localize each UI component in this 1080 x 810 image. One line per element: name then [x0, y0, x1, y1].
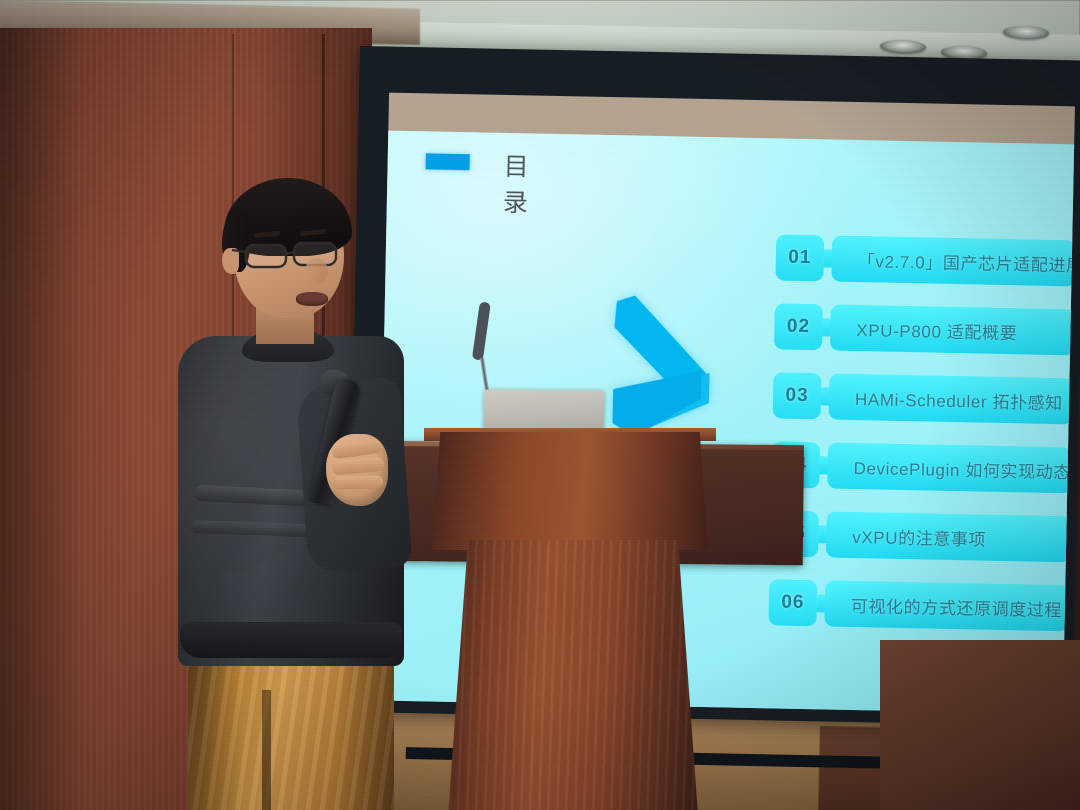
- presenter-mouth: [296, 292, 328, 306]
- wood-wall-right: [880, 640, 1080, 810]
- toc-item-bar: vXPU的注意事项: [826, 511, 1071, 562]
- toc-item-label: 可视化的方式还原调度过程: [825, 591, 1063, 621]
- presentation-photo-scene: 目录 01 「v2.7.0」国产芯片适: [0, 0, 1080, 810]
- toc-item-bar: 可视化的方式还原调度过程: [824, 580, 1069, 631]
- toc-item: 04 DevicePlugin 如何实现动态切分: [771, 441, 1072, 495]
- projection-screen: 目录 01 「v2.7.0」国产芯片适: [347, 46, 1080, 726]
- title-accent-bar: [426, 153, 470, 170]
- toc-item-label: DevicePlugin 如何实现动态切分: [827, 453, 1074, 484]
- slide-title: 目录: [503, 147, 532, 220]
- toc-item-number: 06: [768, 579, 817, 626]
- toc-item-label: 「v2.7.0」国产芯片适配进展: [832, 246, 1075, 276]
- toc-item-number: 02: [774, 303, 823, 350]
- toc-item-label: vXPU的注意事项: [826, 522, 986, 550]
- toc-item-bar: 「v2.7.0」国产芯片适配进展: [831, 236, 1074, 287]
- toc-item-label: HAMi-Scheduler 拓扑感知: [829, 384, 1063, 414]
- toc-item-bar: DevicePlugin 如何实现动态切分: [827, 442, 1072, 493]
- eyeglasses-icon: [230, 238, 354, 272]
- toc-item: 01 「v2.7.0」国产芯片适配进展: [775, 234, 1074, 288]
- lectern-column: [448, 540, 698, 810]
- toc-item-number: 01: [775, 234, 824, 281]
- presenter: [150, 170, 450, 810]
- toc-item-number: 03: [773, 372, 822, 419]
- slide-toc-list: 01 「v2.7.0」国产芯片适配进展 02 XPU-P800 适配概要: [768, 234, 1074, 654]
- toc-item-label: XPU-P800 适配概要: [830, 315, 1017, 344]
- lectern-upper-body: [432, 432, 708, 550]
- toc-item-bar: HAMi-Scheduler 拓扑感知: [829, 373, 1074, 424]
- trouser-seam: [262, 690, 271, 810]
- toc-item: 06 可视化的方式还原调度过程: [768, 579, 1069, 633]
- jacket-hem: [180, 622, 402, 658]
- toc-item: 02 XPU-P800 适配概要: [774, 303, 1074, 357]
- presenter-nose: [306, 258, 328, 284]
- presenter-finger: [333, 475, 383, 490]
- toc-item-bar: XPU-P800 适配概要: [830, 305, 1074, 356]
- chevron-right-arrow-icon: [604, 293, 727, 445]
- toc-item: 03 HAMi-Scheduler 拓扑感知: [773, 372, 1074, 426]
- toc-item: 05 vXPU的注意事项: [770, 510, 1071, 564]
